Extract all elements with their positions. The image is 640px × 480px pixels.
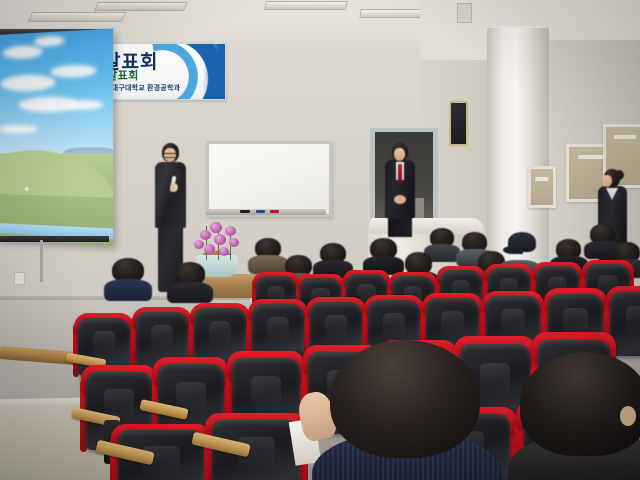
orchid-arrangement	[192, 222, 244, 262]
screen-weight-bar	[0, 236, 109, 242]
ceiling-vent-icon	[457, 3, 472, 23]
audience-member	[320, 243, 346, 273]
ear	[620, 406, 636, 426]
marker-icon	[240, 210, 250, 213]
glasses-icon	[163, 153, 177, 158]
wall-speaker-icon	[449, 101, 468, 146]
marker-icon	[270, 210, 279, 213]
banner-affiliation: : 대구대학교 환경공학과	[107, 83, 180, 93]
screen-support	[40, 240, 43, 282]
clasped-hands	[394, 195, 406, 204]
foreground-person-right	[520, 352, 640, 480]
ceiling-light	[264, 1, 348, 10]
slide-hill	[0, 141, 113, 198]
power-outlet-icon	[14, 272, 25, 285]
slide-caption-text: · · · · · ·	[0, 224, 28, 231]
event-banner: 발표회 발표회 : 대구대학교 환경공학과	[96, 43, 226, 100]
projection-screen: · · · · · ·	[0, 28, 113, 245]
audience-member	[430, 228, 454, 256]
whiteboard-marker-tray	[206, 209, 326, 215]
banner-edge	[203, 44, 225, 99]
audience-member	[370, 238, 397, 269]
audience-member	[590, 224, 615, 253]
whiteboard	[206, 141, 332, 217]
suit-trousers	[388, 215, 412, 237]
slide-cloud	[0, 124, 38, 133]
audience-member	[175, 262, 205, 296]
presenter-hand	[170, 183, 178, 192]
notice-board	[528, 166, 556, 208]
ceiling-light	[94, 2, 188, 11]
audience-member	[255, 238, 281, 268]
foreground-hair	[330, 340, 480, 458]
necktie	[398, 164, 402, 183]
hair-bun	[614, 170, 624, 180]
audience-member	[112, 258, 144, 294]
foreground-person-left	[330, 340, 480, 480]
lecture-hall-photo: 발표회 발표회 : 대구대학교 환경공학과 · · · · · ·	[0, 0, 640, 480]
suit-man-face	[394, 148, 405, 161]
foreground-hair	[520, 352, 640, 456]
woman-face	[602, 175, 612, 187]
marker-icon	[256, 210, 265, 213]
man-in-black-suit	[383, 143, 417, 233]
ceiling-light	[28, 12, 127, 22]
